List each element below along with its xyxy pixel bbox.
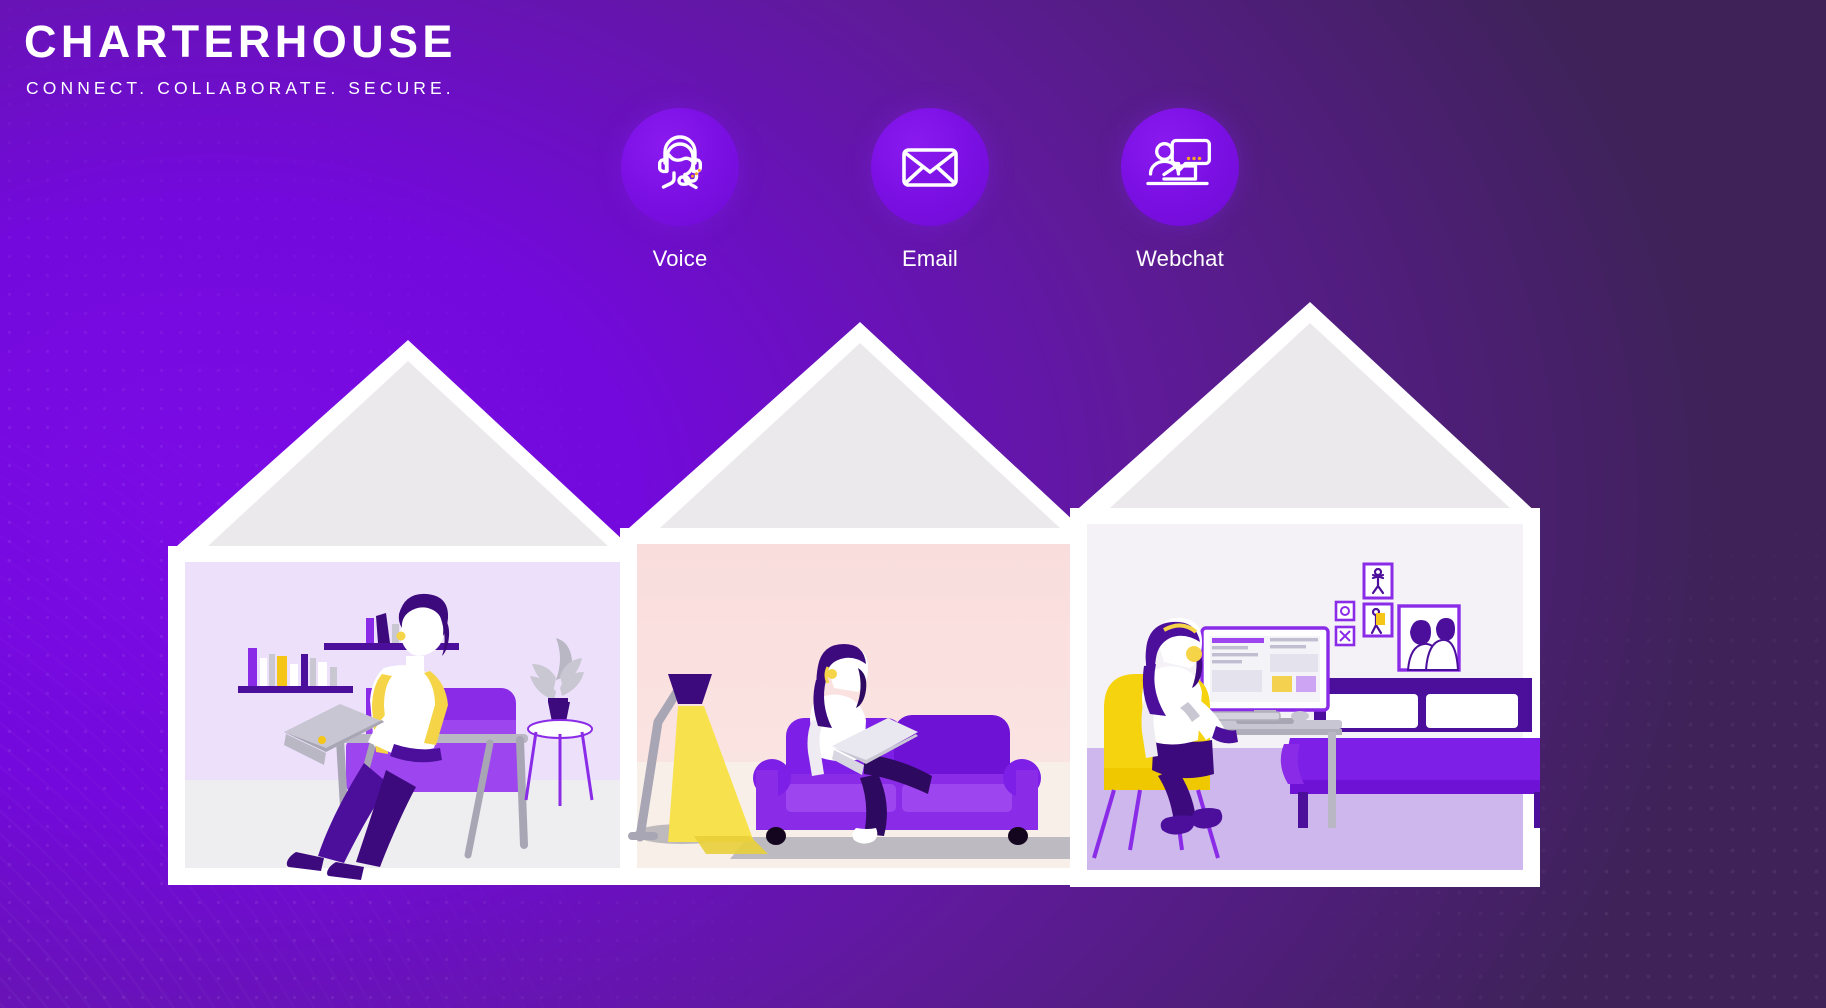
channel-label-webchat: Webchat: [1136, 246, 1224, 272]
house-illustration-2: [620, 322, 1090, 885]
chat-person-icon: [1139, 126, 1221, 208]
webchat-icon-circle: [1121, 108, 1239, 226]
brand-logo: CHARTERHOUSE CONNECT. COLLABORATE. SECUR…: [24, 18, 457, 99]
house-card-1: [168, 340, 638, 885]
house-card-3: [1070, 302, 1540, 887]
channel-item-webchat[interactable]: Webchat: [1100, 108, 1260, 308]
house-card-2: [620, 322, 1090, 885]
channel-list: Voice Email: [600, 108, 1260, 308]
email-icon-circle: [871, 108, 989, 226]
channel-item-voice[interactable]: Voice: [600, 108, 760, 308]
house-illustration-3: [1070, 302, 1540, 887]
channel-item-email[interactable]: Email: [850, 108, 1010, 308]
house-illustration-1: [168, 340, 638, 885]
headset-agent-icon: [640, 127, 720, 207]
brand-tagline: CONNECT. COLLABORATE. SECURE.: [26, 78, 457, 99]
voice-icon-circle: [621, 108, 739, 226]
channel-label-email: Email: [902, 246, 958, 272]
channel-label-voice: Voice: [653, 246, 708, 272]
envelope-icon: [890, 127, 970, 207]
monitor: [1194, 628, 1328, 724]
brand-name: CHARTERHOUSE: [24, 18, 457, 65]
